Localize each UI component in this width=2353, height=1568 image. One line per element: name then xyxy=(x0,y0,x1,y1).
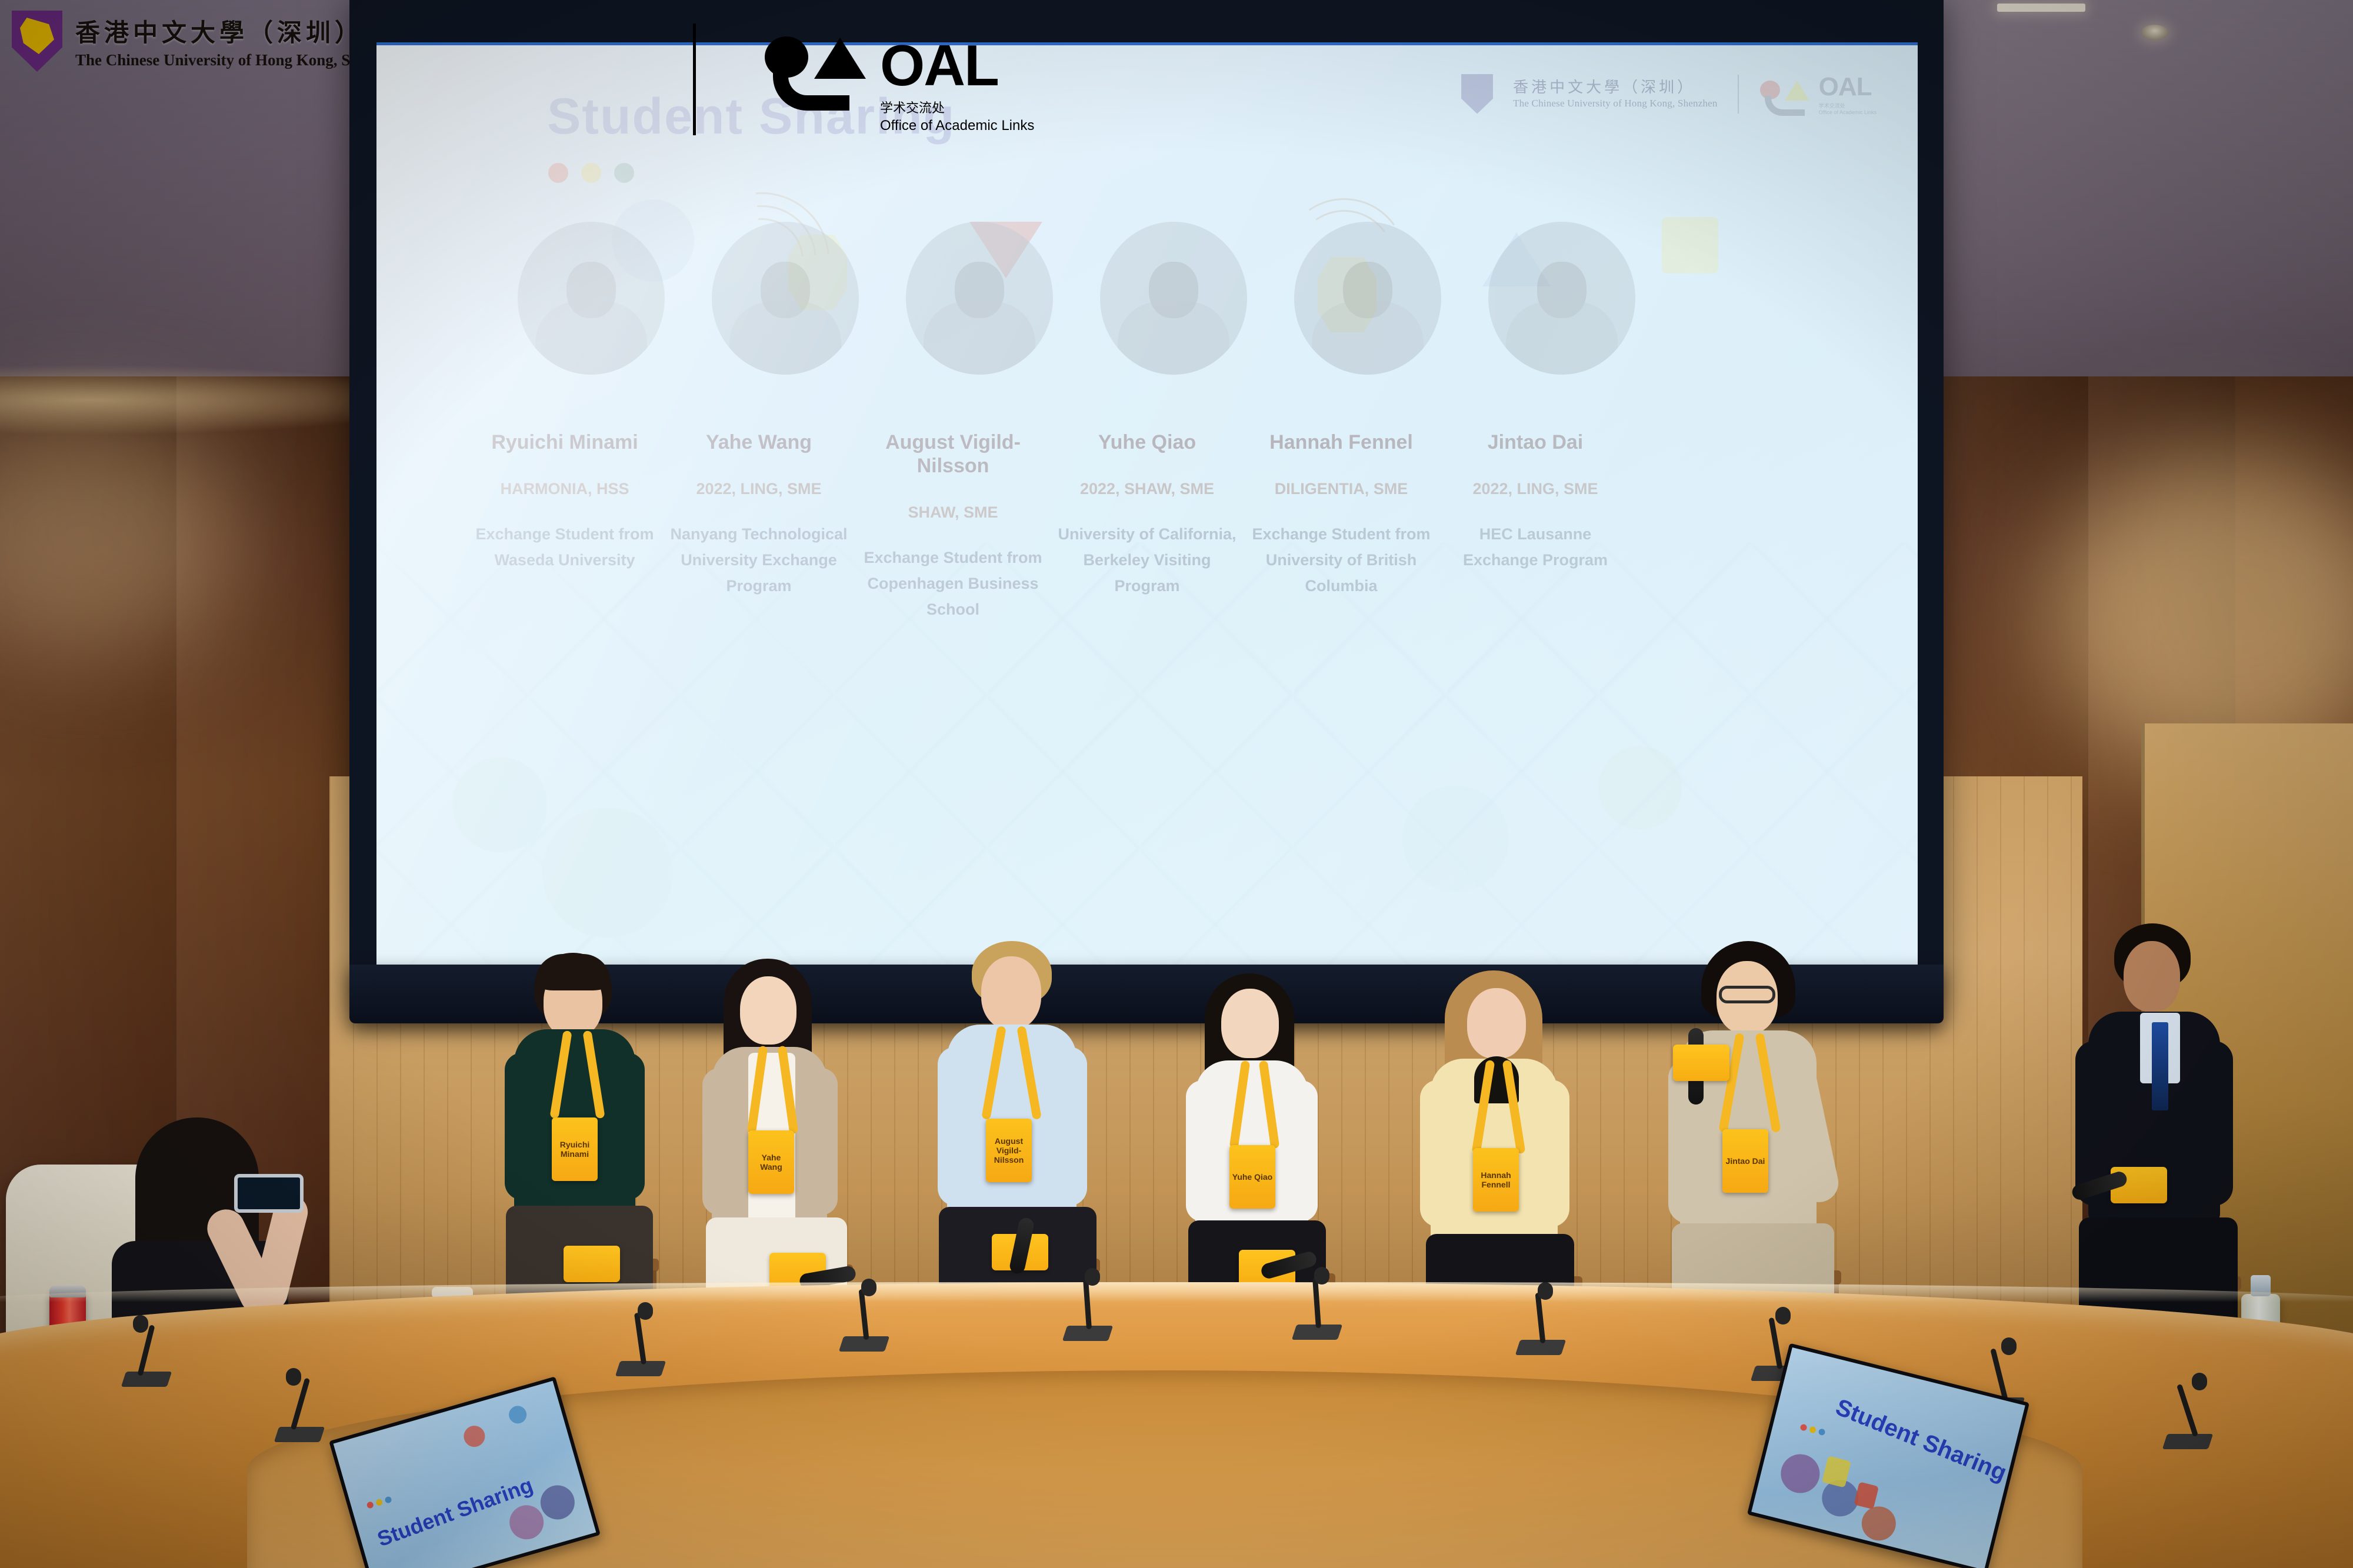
accent-dot xyxy=(548,163,568,183)
badge-name-text: Hannah Fennell xyxy=(1473,1170,1519,1189)
name-badge: Yuhe Qiao xyxy=(1229,1145,1275,1209)
ceiling-right-section xyxy=(1906,0,2353,406)
student-portrait xyxy=(1076,222,1271,375)
student-name: Ryuichi Minami xyxy=(471,431,659,454)
slide-oal-chinese: 学术交流处 xyxy=(1819,102,1877,109)
moderator xyxy=(2065,923,2253,1370)
slide-background-illustration xyxy=(376,542,1918,966)
student-name: Yuhe Qiao xyxy=(1053,431,1241,454)
student-name: August Vigild-Nilsson xyxy=(859,431,1047,478)
student-name: Jintao Dai xyxy=(1441,431,1629,454)
monitor-title: Student Sharing xyxy=(1832,1394,2010,1486)
student-meta: 2022, SHAW, SME xyxy=(1053,480,1241,498)
student-portrait xyxy=(882,222,1076,375)
ceiling-light-panel xyxy=(1997,4,2085,12)
slide-oal-letters: OAL xyxy=(1819,72,1877,102)
monitor-accent-dots xyxy=(1799,1423,1825,1436)
badge-name-text: Yuhe Qiao xyxy=(1230,1172,1275,1182)
oal-mark-icon xyxy=(1759,79,1813,109)
projection-screen: 香港中文大學（深圳） The Chinese University of Hon… xyxy=(376,42,1918,966)
student-portrait xyxy=(1271,222,1465,375)
student-portrait-row xyxy=(494,222,1824,410)
badge-name-text: Yahe Wang xyxy=(748,1153,794,1172)
slide-header-logos: 香港中文大學（深圳） The Chinese University of Hon… xyxy=(1461,72,1877,115)
slide-accent-dots xyxy=(548,163,634,183)
necktie xyxy=(2152,1022,2168,1110)
student-meta: HARMONIA, HSS xyxy=(471,480,659,498)
slide-oal-logo: OAL 学术交流处 Office of Academic Links xyxy=(1759,72,1877,115)
name-badge: Hannah Fennell xyxy=(1473,1148,1519,1212)
oal-mark-icon xyxy=(765,36,865,111)
badge-name-text: August Vigild-Nilsson xyxy=(986,1136,1032,1165)
student-meta: 2022, LING, SME xyxy=(1441,480,1629,498)
slide-oal-english: Office of Academic Links xyxy=(1819,109,1877,115)
student-portrait xyxy=(1465,222,1659,375)
accent-dot xyxy=(581,163,601,183)
recessed-light xyxy=(2141,25,2168,40)
student-portrait xyxy=(688,222,882,375)
name-badge: Jintao Dai xyxy=(1722,1129,1768,1193)
student-portrait xyxy=(494,222,688,375)
student-name: Hannah Fennel xyxy=(1247,431,1435,454)
oal-english: Office of Academic Links xyxy=(880,118,1034,134)
eyeglasses-icon xyxy=(1719,986,1775,1003)
cuhk-shield-icon xyxy=(1461,74,1493,114)
oal-chinese: 学术交流处 xyxy=(880,98,1034,116)
student-name: Yahe Wang xyxy=(665,431,853,454)
student-meta: DILIGENTIA, SME xyxy=(1247,480,1435,498)
program-card xyxy=(564,1246,620,1282)
smartphone[interactable] xyxy=(234,1174,304,1213)
badge-name-text: Jintao Dai xyxy=(1724,1156,1768,1166)
conference-hall-photo: 香港中文大學（深圳） The Chinese University of Hon… xyxy=(0,0,2353,1568)
cuhk-wall-sign: 香港中文大學（深圳） The Chinese University of Hon… xyxy=(12,11,406,72)
student-meta: SHAW, SME xyxy=(859,503,1047,522)
name-badge: August Vigild-Nilsson xyxy=(986,1119,1032,1182)
slide-cuhk-chinese: 香港中文大學（深圳） xyxy=(1513,78,1718,98)
slide-cuhk-english: The Chinese University of Hong Kong, She… xyxy=(1513,97,1718,109)
name-badge: Ryuichi Minami xyxy=(552,1117,598,1181)
student-meta: 2022, LING, SME xyxy=(665,480,853,498)
cuhk-shield-icon xyxy=(12,11,62,72)
accent-dot xyxy=(614,163,634,183)
program-card xyxy=(1673,1045,1729,1081)
oal-logo-divider xyxy=(693,24,696,135)
oal-logo: OAL 学术交流处 Office of Academic Links xyxy=(765,36,1034,134)
oal-letters: OAL xyxy=(880,39,1034,92)
logo-divider xyxy=(1738,75,1739,114)
name-badge: Yahe Wang xyxy=(748,1130,794,1194)
badge-name-text: Ryuichi Minami xyxy=(552,1140,598,1159)
monitor-accent-dots xyxy=(366,1496,392,1509)
